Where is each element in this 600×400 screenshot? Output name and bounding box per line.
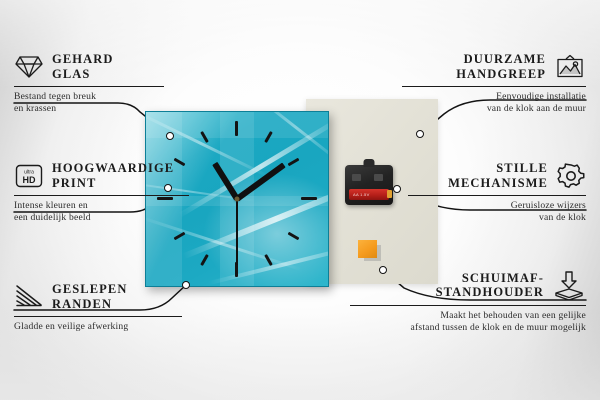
quartz-movement: AA 1.5V — [345, 165, 393, 205]
feature-title-line2: STANDHOUDER — [436, 285, 544, 300]
connector-dot-duurzame-handgreep — [416, 130, 424, 138]
beveled-edge-icon — [14, 284, 44, 310]
connector-dot-geslepen-randen — [182, 281, 190, 289]
foam-spacer — [358, 240, 377, 258]
feature-title: DUURZAME HANDGREEP — [456, 52, 546, 81]
feature-divider — [14, 195, 189, 196]
gear-icon — [556, 162, 586, 190]
feature-title: STILLE MECHANISME — [448, 161, 548, 190]
connector-dot-gehard-glas — [166, 132, 174, 140]
connector-dot-stille-mechanisme — [393, 185, 401, 193]
svg-text:HD: HD — [23, 175, 36, 185]
feature-title-line1: GESLEPEN — [52, 282, 128, 297]
feature-schuimafstandhouder: SCHUIMAF- STANDHOUDER Maakt het behouden… — [350, 270, 586, 333]
tick-4 — [288, 232, 300, 241]
picture-frame-icon — [554, 54, 586, 80]
movement-slot-right — [374, 174, 383, 181]
tick-7 — [200, 254, 209, 266]
feature-divider — [402, 86, 586, 87]
feature-divider — [14, 316, 182, 317]
feature-description: Maakt het behouden van een gelijke afsta… — [350, 310, 586, 333]
spacer-press-icon — [552, 270, 586, 300]
feature-title-line2: RANDEN — [52, 297, 128, 312]
infographic-canvas: AA 1.5V — [0, 0, 600, 400]
battery: AA 1.5V — [349, 189, 389, 200]
feature-divider — [14, 86, 164, 87]
battery-label: AA 1.5V — [353, 192, 370, 197]
feature-geslepen-randen: GESLEPEN RANDEN Gladde en veilige afwerk… — [14, 282, 182, 333]
feature-description: Geruisloze wijzers van de klok — [408, 200, 586, 223]
feature-title: HOOGWAARDIGE PRINT — [52, 161, 174, 190]
tick-3 — [301, 197, 317, 200]
feature-title-line1: SCHUIMAF- — [436, 271, 544, 286]
battery-terminal — [387, 190, 392, 198]
feature-title-line1: DUURZAME — [456, 52, 546, 67]
feature-description: Bestand tegen breuk en krassen — [14, 91, 164, 114]
feature-divider — [350, 305, 586, 306]
feature-title-line2: PRINT — [52, 176, 174, 191]
feature-description: Eenvoudige installatie van de klok aan d… — [402, 91, 586, 114]
feature-description: Gladde en veilige afwerking — [14, 321, 182, 333]
feature-title-line2: GLAS — [52, 67, 113, 82]
feature-title: GESLEPEN RANDEN — [52, 282, 128, 311]
feature-duurzame-handgreep: DUURZAME HANDGREEP Eenvoudige installati… — [402, 52, 586, 114]
feature-title-line1: GEHARD — [52, 52, 113, 67]
feature-title-line2: HANDGREEP — [456, 67, 546, 82]
feature-title: SCHUIMAF- STANDHOUDER — [436, 271, 544, 300]
feature-hoogwaardige-print: ultra HD HOOGWAARDIGE PRINT Intense kleu… — [14, 161, 189, 223]
movement-slot-left — [352, 174, 361, 181]
feature-title-line1: STILLE — [448, 161, 548, 176]
second-hand — [236, 199, 238, 265]
movement-shaft — [364, 159, 375, 167]
feature-stille-mechanisme: STILLE MECHANISME Geruisloze wijzers van… — [408, 161, 586, 223]
ultra-hd-icon: ultra HD — [14, 163, 44, 189]
diamond-icon — [14, 54, 44, 80]
feature-divider — [408, 195, 586, 196]
tick-2 — [288, 158, 300, 167]
feature-description: Intense kleuren en een duidelijk beeld — [14, 200, 189, 223]
feature-title-line2: MECHANISME — [448, 176, 548, 191]
feather-streak-3 — [182, 179, 329, 259]
feature-gehard-glas: GEHARD GLAS Bestand tegen breuk en krass… — [14, 52, 164, 114]
feature-title-line1: HOOGWAARDIGE — [52, 161, 174, 176]
hand-pivot — [235, 197, 240, 202]
feature-title: GEHARD GLAS — [52, 52, 113, 81]
tick-12 — [235, 121, 238, 136]
